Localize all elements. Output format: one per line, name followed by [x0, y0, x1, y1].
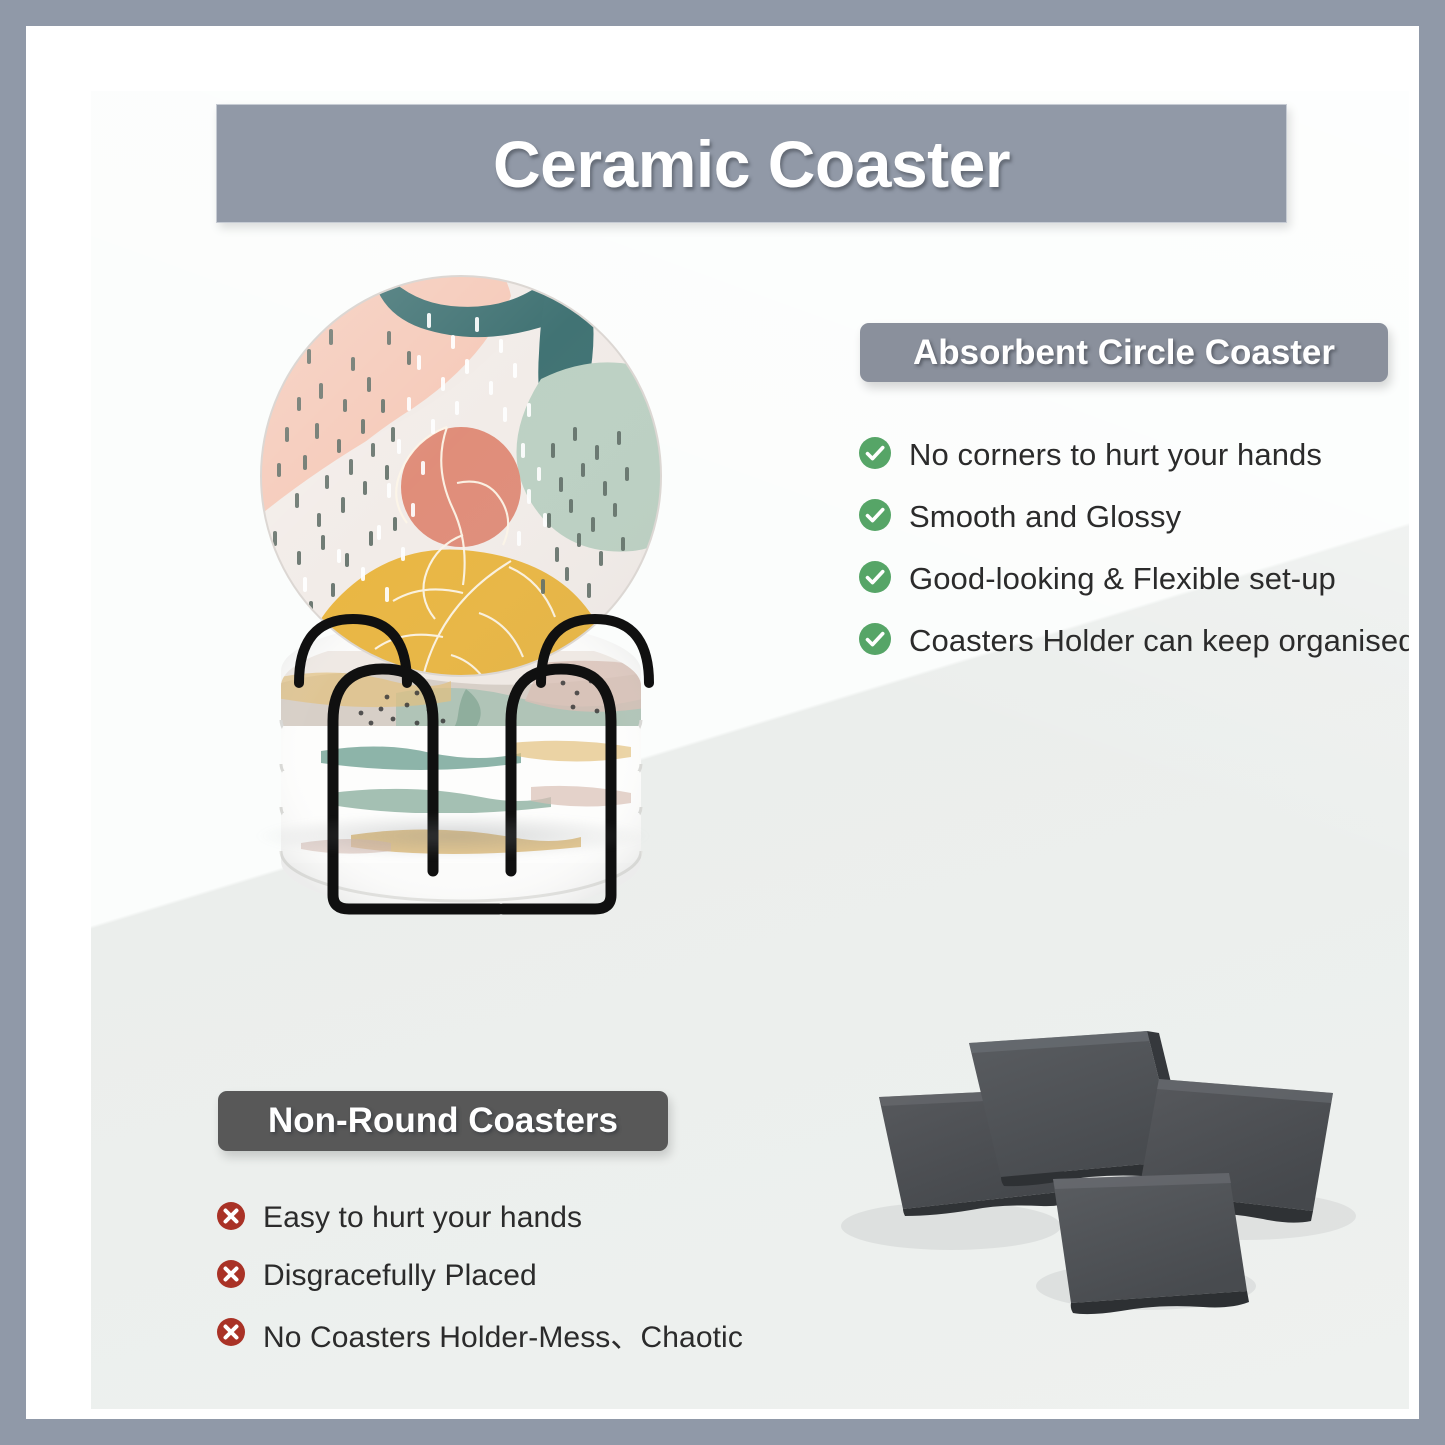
- slate-coasters-image: [791, 1021, 1371, 1361]
- list-item: No Coasters Holder-Mess、Chaotic: [216, 1305, 816, 1363]
- pros-section-label: Absorbent Circle Coaster: [913, 333, 1335, 373]
- list-item-label: Easy to hurt your hands: [263, 1201, 582, 1235]
- list-item: Disgracefully Placed: [216, 1247, 816, 1305]
- x-circle-icon: [216, 1259, 246, 1294]
- list-item-label: Coasters Holder can keep organised: [909, 623, 1409, 659]
- list-item: Easy to hurt your hands: [216, 1189, 816, 1247]
- pros-section-banner: Absorbent Circle Coaster: [860, 323, 1388, 382]
- square-slate-coasters-illustration: [791, 1021, 1371, 1361]
- x-circle-icon: [216, 1317, 246, 1352]
- list-item: No corners to hurt your hands: [858, 424, 1409, 486]
- list-item: Smooth and Glossy: [858, 486, 1409, 548]
- list-item-label: Disgracefully Placed: [263, 1259, 537, 1293]
- page-title: Ceramic Coaster: [493, 126, 1010, 202]
- list-item-label: Good-looking & Flexible set-up: [909, 561, 1336, 597]
- poster-matte: Ceramic Coaster: [26, 26, 1419, 1419]
- list-item: Coasters Holder can keep organised: [858, 610, 1409, 672]
- hero-drop-shadow: [253, 813, 653, 859]
- page-title-banner: Ceramic Coaster: [216, 104, 1287, 223]
- check-circle-icon: [858, 560, 892, 599]
- slate-coaster: [1053, 1173, 1249, 1314]
- cons-section-label: Non-Round Coasters: [268, 1101, 618, 1141]
- x-circle-icon: [216, 1201, 246, 1236]
- check-circle-icon: [858, 498, 892, 537]
- standing-coaster: [211, 231, 711, 733]
- list-item: Good-looking & Flexible set-up: [858, 548, 1409, 610]
- list-item-label: No corners to hurt your hands: [909, 437, 1322, 473]
- poster-frame: Ceramic Coaster: [0, 0, 1445, 1445]
- cons-feature-list: Easy to hurt your hands Disgracefully Pl…: [216, 1189, 816, 1363]
- pros-feature-list: No corners to hurt your hands Smooth and…: [858, 424, 1409, 672]
- check-circle-icon: [858, 622, 892, 661]
- cons-section-banner: Non-Round Coasters: [218, 1091, 668, 1151]
- check-circle-icon: [858, 436, 892, 475]
- list-item-label: No Coasters Holder-Mess、Chaotic: [263, 1312, 743, 1356]
- list-item-label: Smooth and Glossy: [909, 499, 1181, 535]
- poster-canvas: Ceramic Coaster: [91, 91, 1409, 1409]
- hero-product-image: [211, 231, 711, 921]
